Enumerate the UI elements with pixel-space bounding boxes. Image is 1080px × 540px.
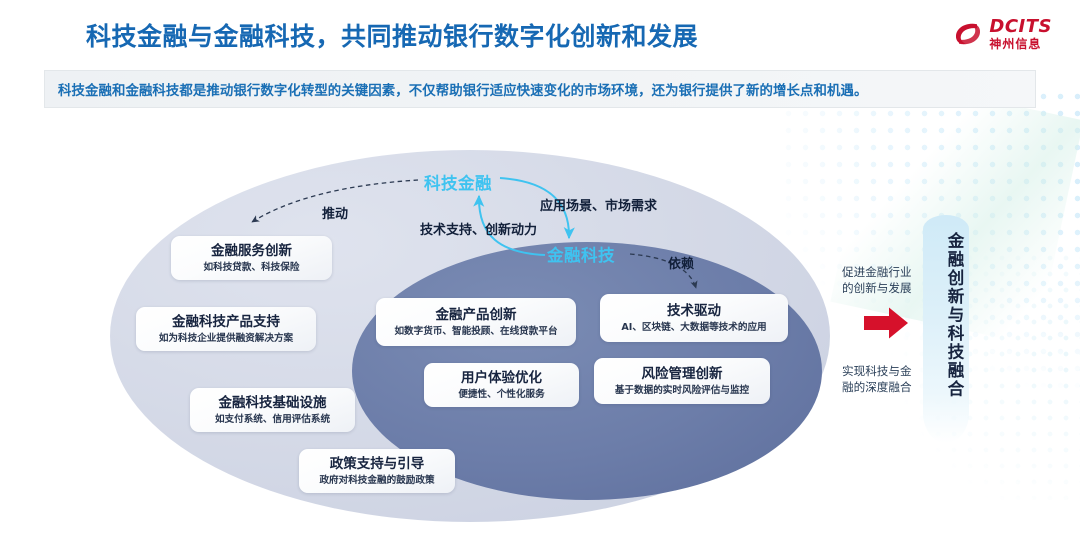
- diagram-area: 科技金融 金融科技 推动 技术支持、创新动力 应用场景、市场需求 依赖 金融服务…: [0, 0, 1080, 540]
- card-title: 用户体验优化: [461, 370, 542, 387]
- card-subtitle: AI、区块链、大数据等技术的应用: [621, 322, 766, 334]
- label-keji-jinrong: 科技金融: [424, 170, 492, 194]
- label-tech-support: 技术支持、创新动力: [420, 219, 537, 238]
- slide-canvas: 科技金融与金融科技，共同推动银行数字化创新和发展 DCITS 神州信息 科技金融…: [0, 0, 1080, 540]
- label-jinrong-keji: 金融科技: [547, 242, 615, 266]
- vertical-title-text: 金融创新与科技融合: [930, 232, 962, 399]
- label-yilai: 依赖: [668, 253, 694, 272]
- card-risk-management-innovation[interactable]: 风险管理创新 基于数据的实时风险评估与监控: [594, 358, 770, 404]
- card-subtitle: 基于数据的实时风险评估与监控: [615, 385, 749, 397]
- card-title: 风险管理创新: [642, 366, 723, 383]
- card-subtitle: 如科技贷款、科技保险: [204, 262, 300, 274]
- red-right-arrow-icon: [862, 305, 910, 341]
- card-subtitle: 如为科技企业提供融资解决方案: [159, 333, 293, 345]
- card-financial-product-innovation[interactable]: 金融产品创新 如数字货币、智能投顾、在线贷款平台: [376, 298, 576, 346]
- note-promote-innovation: 促进金融行业 的创新与发展: [842, 265, 912, 296]
- card-user-experience-optimization[interactable]: 用户体验优化 便捷性、个性化服务: [424, 363, 579, 407]
- card-subtitle: 便捷性、个性化服务: [458, 389, 544, 401]
- card-fintech-product-support[interactable]: 金融科技产品支持 如为科技企业提供融资解决方案: [136, 307, 316, 351]
- label-tuidong: 推动: [322, 203, 348, 222]
- card-policy-support-guidance[interactable]: 政策支持与引导 政府对科技金融的鼓励政策: [299, 449, 455, 493]
- card-title: 技术驱动: [667, 303, 721, 320]
- card-subtitle: 如支付系统、信用评估系统: [215, 414, 330, 426]
- card-title: 金融科技基础设施: [219, 395, 327, 412]
- card-technology-driven[interactable]: 技术驱动 AI、区块链、大数据等技术的应用: [600, 294, 788, 342]
- card-subtitle: 如数字货币、智能投顾、在线贷款平台: [394, 326, 557, 338]
- card-fintech-infrastructure[interactable]: 金融科技基础设施 如支付系统、信用评估系统: [190, 388, 355, 432]
- note-deep-integration: 实现科技与金 融的深度融合: [842, 364, 912, 395]
- card-title: 金融服务创新: [211, 243, 292, 260]
- card-financial-service-innovation[interactable]: 金融服务创新 如科技贷款、科技保险: [171, 236, 332, 280]
- card-title: 政策支持与引导: [330, 456, 425, 473]
- label-scene-demand: 应用场景、市场需求: [540, 195, 657, 214]
- card-title: 金融科技产品支持: [172, 314, 280, 331]
- card-title: 金融产品创新: [436, 307, 517, 324]
- card-subtitle: 政府对科技金融的鼓励政策: [319, 475, 434, 487]
